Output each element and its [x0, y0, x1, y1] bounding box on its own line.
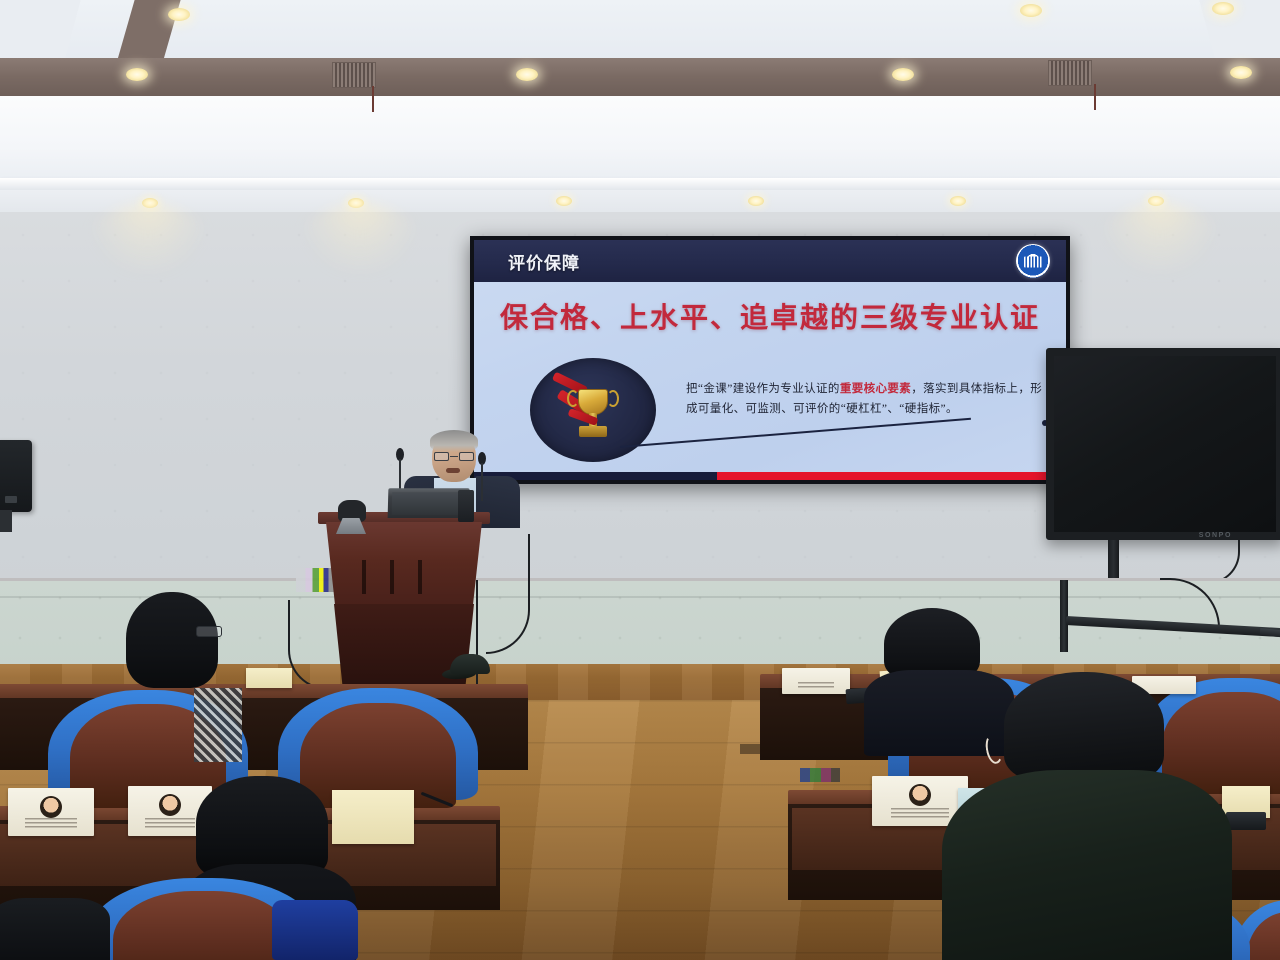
- downlight-icon: [168, 8, 190, 21]
- trophy-base: [579, 426, 607, 437]
- monitor-screen: [1054, 356, 1276, 532]
- downlight-icon: [1212, 2, 1234, 15]
- slide-main-title: 保合格、上水平、追卓越的三级专业认证: [474, 296, 1066, 336]
- attendee-right-rear: [878, 608, 996, 740]
- sprinkler-head: [1094, 84, 1096, 110]
- downlight-icon: [950, 196, 966, 206]
- slide-footer-bar: [474, 472, 1066, 480]
- air-vent: [1048, 60, 1092, 86]
- podium-slot: [390, 560, 394, 594]
- attendee-bottom-left: [0, 898, 110, 960]
- trophy-medallion: [530, 358, 656, 462]
- podium-slot: [362, 560, 366, 594]
- book-cover-text: [145, 818, 195, 828]
- desk-notebook: [246, 668, 292, 688]
- presentation-slide: 评价保障 保合格、上水平、追卓越的三级专业认证 把“金课”建设作为专业认证的重要…: [474, 240, 1066, 480]
- attendee-hair: [126, 592, 218, 688]
- ceiling-perspective-right: [1090, 0, 1280, 60]
- wall-monitor[interactable]: SONPO: [1046, 348, 1280, 540]
- monitor-brand-label: SONPO: [1199, 532, 1232, 539]
- attendee-hair: [196, 776, 328, 878]
- ceiling: [0, 0, 1280, 212]
- downlight-icon: [516, 68, 538, 81]
- wall-speaker: [0, 440, 32, 512]
- speaker-mount-arm: [0, 510, 12, 532]
- ceiling-cornice: [0, 178, 1280, 190]
- book-cover-portrait: [159, 794, 181, 816]
- eyeglasses-icon: [434, 452, 474, 461]
- university-seal-logo: [1016, 244, 1050, 278]
- slide-header-title: 评价保障: [508, 249, 580, 274]
- smartphone-on-desk: [1226, 812, 1266, 830]
- downlight-icon: [748, 196, 764, 206]
- wireless-mic-receiver: [458, 490, 474, 522]
- slide-body-text: 把“金课”建设作为专业认证的重要核心要素，落实到具体指标上，形成可量化、可监测、…: [686, 380, 1044, 420]
- presenter-hair: [430, 430, 478, 452]
- footer-red-segment: [717, 472, 1066, 480]
- wall-light-pool: [88, 204, 208, 274]
- book-cover-text: [891, 808, 949, 818]
- downlight-icon: [1020, 4, 1042, 17]
- attendee-right-front: [990, 672, 1220, 960]
- attendee-torso: [0, 898, 110, 960]
- air-vent: [332, 62, 376, 88]
- trophy-handle-right: [607, 390, 619, 407]
- black-cap: [442, 654, 496, 680]
- cap-crown: [450, 654, 490, 674]
- ceiling-white-slab: [0, 96, 1280, 182]
- downlight-icon: [556, 196, 572, 206]
- podium-slot: [418, 560, 422, 594]
- attendee-hair: [1004, 672, 1164, 782]
- downlight-icon: [126, 68, 148, 81]
- gold-trophy-icon: [562, 377, 624, 443]
- wall-light-pool: [1100, 204, 1220, 274]
- eyeglasses-icon: [196, 626, 222, 637]
- book-on-desk: [8, 788, 94, 836]
- book-on-desk: [782, 668, 850, 694]
- book-cover-text: [25, 818, 77, 828]
- presenter-mouth: [446, 468, 460, 473]
- book-cover-text: [798, 682, 833, 689]
- trophy-cup: [578, 389, 608, 415]
- slide-header-bar: 评价保障: [474, 240, 1066, 282]
- attendee-front-left: [118, 592, 234, 704]
- attendee-patterned-top: [194, 688, 242, 762]
- downlight-icon: [892, 68, 914, 81]
- wall-light-pool: [300, 204, 420, 274]
- downlight-icon: [1230, 66, 1252, 79]
- projection-screen[interactable]: 评价保障 保合格、上水平、追卓越的三级专业认证 把“金课”建设作为专业认证的重要…: [470, 236, 1070, 484]
- callout-leader-line: [620, 418, 971, 448]
- slide-body-highlight: 重要核心要素: [840, 383, 911, 395]
- sprinkler-head: [372, 86, 374, 112]
- book-cover-portrait: [909, 784, 931, 806]
- lecture-hall-scene: 评价保障 保合格、上水平、追卓越的三级专业认证 把“金课”建设作为专业认证的重要…: [0, 0, 1280, 960]
- slide-body-part1: 把“金课”建设作为专业认证的: [686, 383, 840, 395]
- blue-backpack: [272, 900, 358, 960]
- book-cover-portrait: [40, 796, 62, 818]
- attendee-jacket: [942, 770, 1232, 960]
